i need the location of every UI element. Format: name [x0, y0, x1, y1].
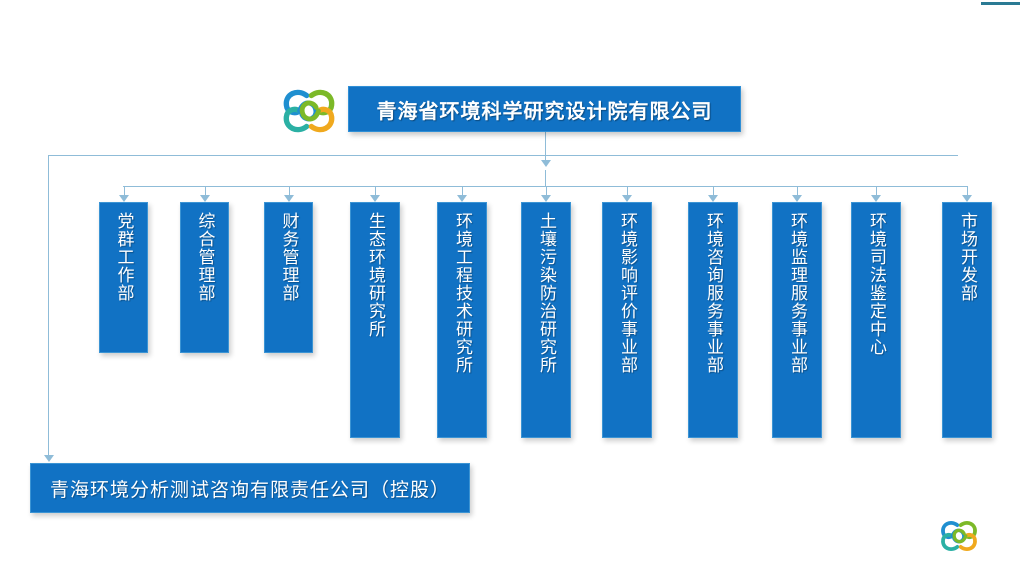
department-label: 环境工程技术研究所: [451, 212, 473, 374]
corner-rule: [981, 2, 1020, 5]
department-drop-arrow: [792, 195, 802, 202]
department-drop-arrow: [708, 195, 718, 202]
department-drop-line: [713, 186, 714, 195]
department-drop-line: [627, 186, 628, 195]
org-chart-slide: 青海省环境科学研究设计院有限公司 党群工作部综合管理部财务管理部生态环境研究所环…: [0, 0, 1020, 563]
department-drop-arrow: [200, 195, 210, 202]
subsidiary-box[interactable]: 青海环境分析测试咨询有限责任公司（控股）: [30, 463, 470, 513]
company-logo-footer: [938, 518, 980, 554]
department-box[interactable]: 环境咨询服务事业部: [688, 202, 738, 438]
department-drop-line: [797, 186, 798, 195]
department-drop-line: [876, 186, 877, 195]
subsidiary-label: 青海环境分析测试咨询有限责任公司（控股）: [50, 475, 450, 502]
department-label: 市场开发部: [956, 212, 978, 302]
department-label: 土壤污染防治研究所: [535, 212, 557, 374]
root-company-box[interactable]: 青海省环境科学研究设计院有限公司: [348, 86, 741, 132]
department-drop-arrow: [871, 195, 881, 202]
department-drop-line: [462, 186, 463, 195]
department-box[interactable]: 环境工程技术研究所: [437, 202, 487, 438]
department-box[interactable]: 环境司法鉴定中心: [851, 202, 901, 438]
root-stem-arrow: [541, 160, 551, 167]
department-drop-line: [124, 186, 125, 195]
department-drop-arrow: [622, 195, 632, 202]
department-box[interactable]: 财务管理部: [264, 202, 313, 353]
department-drop-line: [967, 186, 968, 195]
department-drop-arrow: [370, 195, 380, 202]
department-drop-line: [546, 186, 547, 195]
department-drop-arrow: [962, 195, 972, 202]
department-drop-arrow: [284, 195, 294, 202]
department-label: 党群工作部: [112, 212, 134, 302]
root-company-title: 青海省环境科学研究设计院有限公司: [377, 95, 713, 124]
department-label: 环境监理服务事业部: [786, 212, 808, 374]
department-box[interactable]: 土壤污染防治研究所: [521, 202, 571, 438]
department-drop-line: [289, 186, 290, 195]
upper-bus-line: [48, 155, 958, 156]
department-label: 环境影响评价事业部: [616, 212, 638, 374]
department-label: 财务管理部: [277, 212, 299, 302]
department-drop-arrow: [119, 195, 129, 202]
subsidiary-drop-arrow: [44, 455, 54, 462]
department-box[interactable]: 生态环境研究所: [350, 202, 400, 438]
department-drop-line: [205, 186, 206, 195]
department-box[interactable]: 环境监理服务事业部: [772, 202, 822, 438]
department-label: 环境咨询服务事业部: [702, 212, 724, 374]
department-box[interactable]: 综合管理部: [180, 202, 229, 353]
department-box[interactable]: 党群工作部: [99, 202, 148, 353]
department-box[interactable]: 市场开发部: [942, 202, 992, 438]
department-label: 综合管理部: [193, 212, 215, 302]
department-label: 环境司法鉴定中心: [865, 212, 887, 356]
department-drop-arrow: [541, 195, 551, 202]
department-drop-arrow: [457, 195, 467, 202]
department-drop-line: [375, 186, 376, 195]
department-box[interactable]: 环境影响评价事业部: [602, 202, 652, 438]
department-label: 生态环境研究所: [364, 212, 386, 338]
company-logo: [278, 86, 340, 136]
subsidiary-drop-line: [48, 155, 49, 455]
root-to-lower-bus-line: [545, 170, 546, 186]
